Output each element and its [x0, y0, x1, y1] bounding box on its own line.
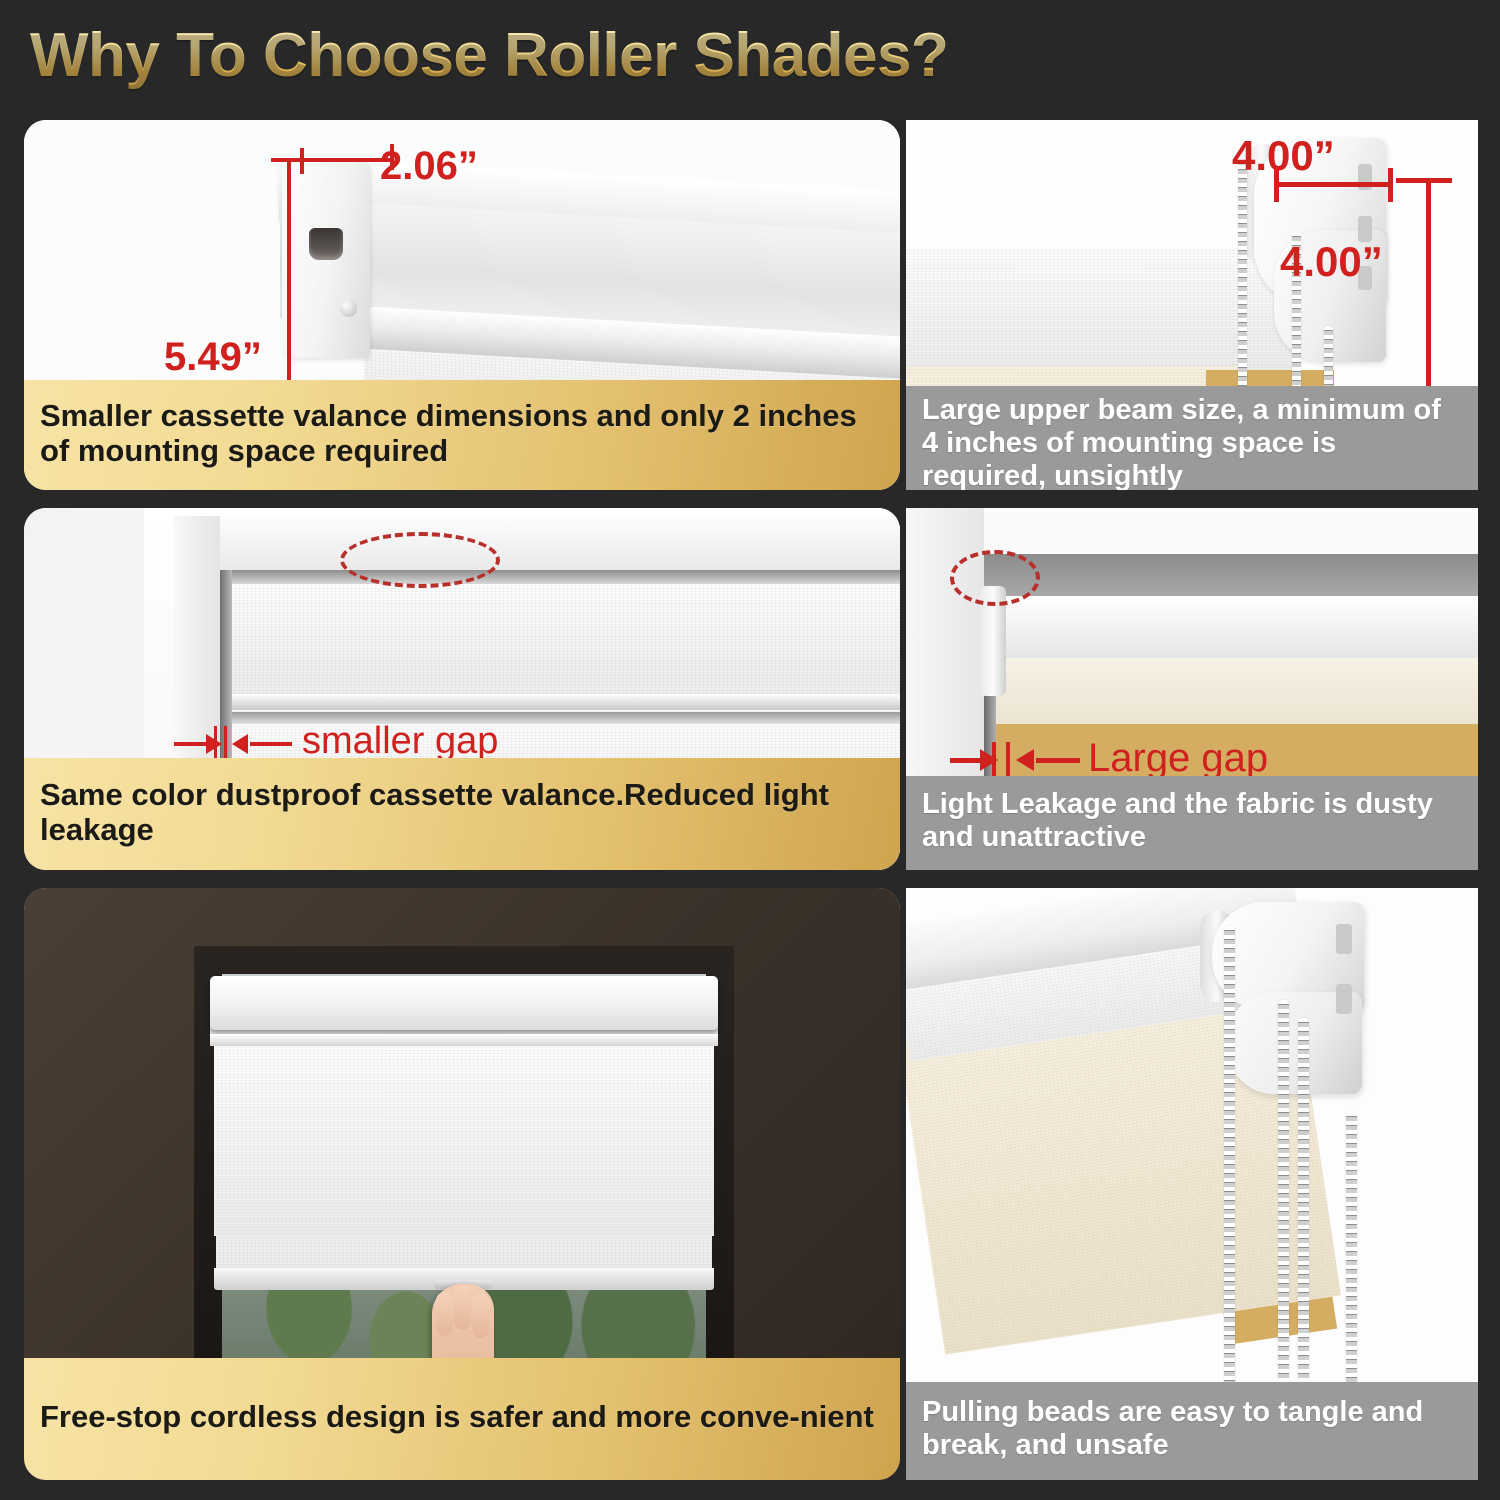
dim-line-width — [1276, 182, 1392, 187]
gap-arrow-right-head — [232, 734, 248, 754]
gap-tick-2 — [224, 726, 227, 762]
dimension-label-4-00-height: 4.00” — [1280, 238, 1383, 286]
panel-1-good-cassette: 2.06” 5.49” Smaller cassette valance dim… — [24, 120, 900, 490]
dim-tick-top — [271, 158, 313, 162]
infographic-root: Why To Choose Roller Shades? 2.06” 5.49”… — [0, 0, 1500, 1500]
panel-5-good-cordless: Free-stop cordless design is safer and m… — [24, 888, 900, 1480]
dimension-label-4-00-width: 4.00” — [1232, 132, 1335, 180]
panel-2-caption: Large upper beam size, a minimum of 4 in… — [906, 386, 1478, 490]
bead-chain-3 — [1298, 1018, 1309, 1416]
gap-arrow-left-line — [950, 758, 982, 763]
gap-tick-2 — [1006, 742, 1010, 780]
highlight-ellipse — [340, 532, 500, 588]
dimension-label-2-06: 2.06” — [380, 144, 478, 189]
page-title: Why To Choose Roller Shades? — [30, 20, 948, 91]
panel-4-caption: Light Leakage and the fabric is dusty an… — [906, 776, 1478, 870]
gap-arrow-right-line — [1036, 758, 1080, 763]
gap-label-large: Large gap — [1088, 736, 1268, 781]
bead-chain-2 — [1278, 1000, 1289, 1416]
panel-3-good-small-gap: smaller gap Same color dustproof cassett… — [24, 508, 900, 870]
gap-arrow-left-head — [980, 749, 998, 771]
panel-6-bad-bead-chain: Pulling beads are easy to tangle and bre… — [906, 888, 1478, 1480]
highlight-ellipse — [950, 550, 1040, 606]
bead-chain-4 — [1346, 1112, 1357, 1416]
panel-3-caption: Same color dustproof cassette valance.Re… — [24, 758, 900, 870]
gap-arrow-right-head — [1016, 749, 1034, 771]
gap-arrow-left-head — [206, 734, 222, 754]
panel-4-bad-large-gap: Large gap Light Leakage and the fabric i… — [906, 508, 1478, 870]
bead-chain-1 — [1224, 926, 1235, 1416]
panel-2-bad-large-beam: 4.00” 4.00” Large upper beam size, a min… — [906, 120, 1478, 490]
panel-5-caption: Free-stop cordless design is safer and m… — [24, 1358, 900, 1480]
panel-6-caption: Pulling beads are easy to tangle and bre… — [906, 1382, 1478, 1480]
dim-line-height — [1426, 180, 1431, 398]
dimension-label-5-49: 5.49” — [164, 335, 262, 380]
panel-1-caption: Smaller cassette valance dimensions and … — [24, 380, 900, 490]
gap-arrow-right-line — [250, 742, 292, 746]
gap-label-smaller: smaller gap — [302, 720, 498, 763]
gap-arrow-left-line — [174, 742, 208, 746]
dim-tick-top — [1396, 178, 1452, 183]
dim-tick-right — [1388, 168, 1393, 202]
